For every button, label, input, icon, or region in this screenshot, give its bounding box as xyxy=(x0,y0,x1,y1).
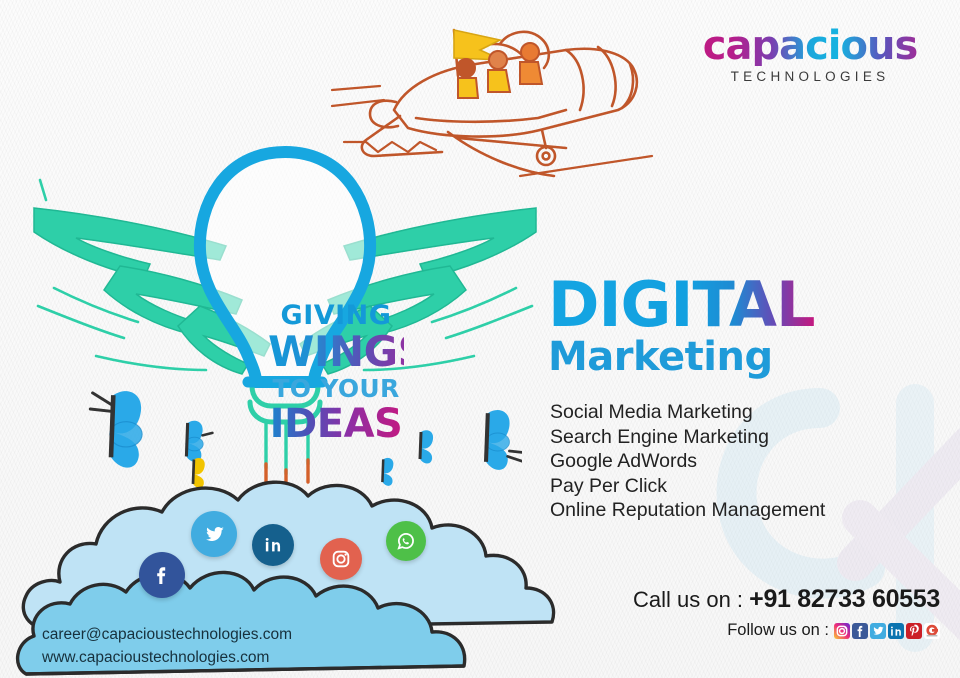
follow-icon-instagram[interactable] xyxy=(834,623,850,639)
follow-icon-pinterest[interactable] xyxy=(906,623,922,639)
follow-label: Follow us on : xyxy=(727,621,829,640)
social-icon-whatsapp[interactable] xyxy=(386,521,426,561)
cloud-contact-block: career@capacioustechnologies.com www.cap… xyxy=(42,623,292,670)
call-block: Call us on : +91 82733 60553 Follow us o… xyxy=(633,585,940,640)
headline-primary: DIGITAL xyxy=(548,276,814,335)
social-icon-instagram[interactable] xyxy=(320,538,362,580)
brand-logo: capacious TECHNOLOGIES xyxy=(690,26,930,84)
phone-number[interactable]: +91 82733 60553 xyxy=(749,585,940,613)
follow-icon-linkedin[interactable] xyxy=(888,623,904,639)
slogan-line-3: TO YOUR xyxy=(268,376,404,401)
logo-wordmark: capacious xyxy=(690,26,930,66)
call-label: Call us on : xyxy=(633,587,743,612)
call-line: Call us on : +91 82733 60553 xyxy=(633,585,940,614)
pinterest-glyph-icon xyxy=(906,623,922,639)
whatsapp-glyph-icon xyxy=(395,530,417,552)
slogan-line-1: GIVING xyxy=(268,302,404,329)
linkedin-glyph-icon xyxy=(888,623,904,639)
headline-block: DIGITAL Marketing xyxy=(548,276,814,377)
contact-website[interactable]: www.capacioustechnologies.com xyxy=(42,646,292,669)
social-icon-linkedin[interactable] xyxy=(252,524,294,566)
twitter-glyph-icon xyxy=(870,623,886,639)
social-icon-twitter[interactable] xyxy=(191,511,237,557)
poster-canvas: capacious TECHNOLOGIES xyxy=(0,0,960,678)
list-item: Search Engine Marketing xyxy=(550,425,825,450)
follow-icon-google[interactable] xyxy=(924,623,940,639)
linkedin-glyph-icon xyxy=(262,534,284,556)
logo-tagline: TECHNOLOGIES xyxy=(690,69,930,84)
headline-secondary: Marketing xyxy=(548,337,814,377)
twitter-glyph-icon xyxy=(202,522,227,547)
instagram-glyph-icon xyxy=(330,548,352,570)
google-glyph-icon xyxy=(924,623,940,639)
follow-line: Follow us on : xyxy=(633,621,940,640)
contact-email[interactable]: career@capacioustechnologies.com xyxy=(42,623,292,646)
facebook-glyph-icon xyxy=(852,623,868,639)
slogan-line-2: WINGS xyxy=(268,331,404,373)
follow-icon-twitter[interactable] xyxy=(870,623,886,639)
list-item: Social Media Marketing xyxy=(550,400,825,425)
follow-icon-facebook[interactable] xyxy=(852,623,868,639)
facebook-glyph-icon xyxy=(150,563,174,587)
instagram-glyph-icon xyxy=(834,623,850,639)
social-icon-facebook[interactable] xyxy=(139,552,185,598)
